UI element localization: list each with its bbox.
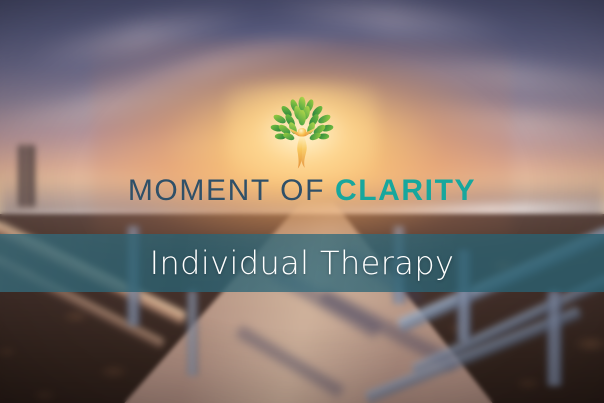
- human-figure-trunk: [286, 127, 318, 169]
- railing-post: [187, 290, 198, 376]
- wordmark: MOMENT OF CLARITY: [0, 176, 604, 206]
- hero-banner: MOMENT OF CLARITY Individual Therapy: [0, 0, 604, 403]
- brand-lockup: MOMENT OF CLARITY: [0, 96, 604, 206]
- tree-of-life-logo-icon: [267, 96, 337, 170]
- wordmark-light: MOMENT OF: [128, 174, 335, 207]
- railing-post: [547, 290, 562, 386]
- wordmark-bold: CLARITY: [335, 174, 476, 207]
- page-title: Individual Therapy: [150, 244, 455, 282]
- page-title-band: Individual Therapy: [0, 234, 604, 292]
